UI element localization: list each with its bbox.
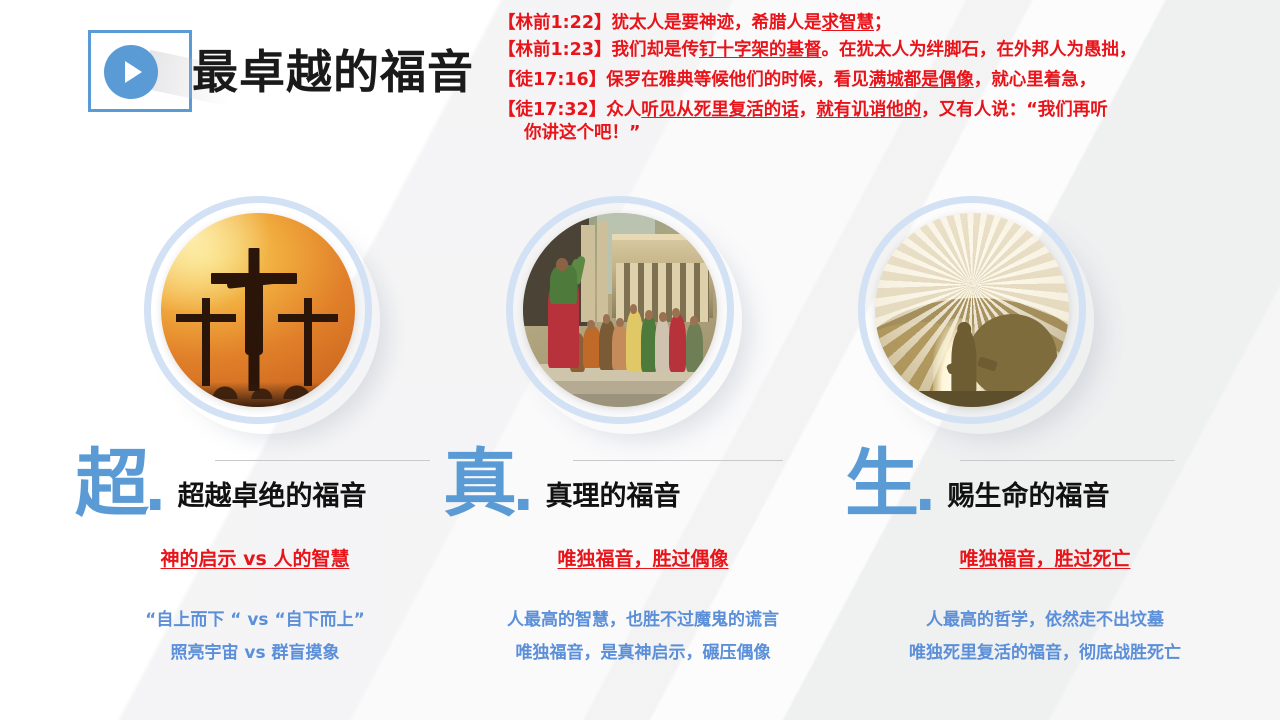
detail-line: 唯独福音，是真神启示，碾压偶像 [443, 637, 843, 670]
verse-emphasis: 钉十字架的基督 [699, 40, 822, 60]
column-red-subtitle: 神的启示 vs 人的智慧 [55, 544, 455, 571]
column-detail-lines: 人最高的智慧，也胜不过魔鬼的谎言 唯独福音，是真神启示，碾压偶像 [443, 604, 843, 670]
detail-line: 唯独死里复活的福音，彻底战胜死亡 [845, 637, 1245, 670]
column-heading: 超越卓绝的福音 [178, 474, 367, 513]
column-divider [215, 460, 430, 461]
three-crosses-sunset-image [161, 213, 355, 407]
column-dot: . [915, 449, 936, 520]
verse-emphasis-2: 就有讥诮他的 [816, 100, 921, 120]
verse-reference: 【林前1:22】 [498, 13, 612, 33]
scripture-verse: 【林前1:22】犹太人是要神迹，希腊人是求智慧； [498, 12, 1280, 35]
column-big-char: 超 [75, 449, 149, 520]
column-heading: 真理的福音 [546, 474, 681, 513]
verse-text: 众人 [606, 100, 641, 120]
column-heading-row: 真 . 真理的福音 [443, 443, 843, 520]
verse-text: 犹太人是要神迹，希腊人是 [612, 13, 822, 33]
scripture-verse: 【徒17:32】众人听见从死里复活的话，就有讥诮他的，又有人说：“我们再听你讲这… [498, 99, 1280, 145]
page-title: 最卓越的福音 [192, 36, 474, 102]
verse-reference: 【徒17:16】 [498, 70, 606, 90]
play-button-icon [104, 45, 158, 99]
column-divider [960, 460, 1175, 461]
scripture-verse: 【徒17:16】保罗在雅典等候他们的时候，看见满城都是偶像，就心里着急， [498, 69, 1280, 92]
verse-text-tail: ，又有人说：“我们再听 [921, 100, 1108, 120]
verse-text-tail: ； [874, 13, 892, 33]
column-big-char: 生 [845, 449, 919, 520]
slide-canvas: 最卓越的福音 【林前1:22】犹太人是要神迹，希腊人是求智慧； 【林前1:23】… [0, 0, 1280, 720]
verse-reference: 【林前1:23】 [498, 40, 612, 60]
verse-emphasis: 满城都是偶像 [869, 70, 974, 90]
detail-line: 人最高的智慧，也胜不过魔鬼的谎言 [443, 604, 843, 637]
verse-text-tail: 。在犹太人为绊脚石，在外邦人为愚拙， [822, 40, 1137, 60]
image-circle-2 [506, 196, 734, 424]
verse-text: 我们却是传 [612, 40, 700, 60]
column-detail-lines: “自上而下 “ vs “自下而上” 照亮宇宙 vs 群盲摸象 [55, 604, 455, 670]
column-heading-row: 生 . 赐生命的福音 [845, 443, 1245, 520]
detail-line: 人最高的哲学，依然走不出坟墓 [845, 604, 1245, 637]
column-block-2: 真 . 真理的福音 唯独福音，胜过偶像 人最高的智慧，也胜不过魔鬼的谎言 唯独福… [443, 443, 843, 670]
image-circle-3 [858, 196, 1086, 424]
verse-text-wrap: 你讲这个吧！” [498, 122, 1280, 145]
verse-emphasis: 求智慧 [822, 13, 875, 33]
paul-preaching-athens-image [523, 213, 717, 407]
column-red-subtitle: 唯独福音，胜过偶像 [443, 544, 843, 571]
column-dot: . [513, 449, 534, 520]
verse-emphasis: 听见从死里复活的话 [641, 100, 799, 120]
detail-line: 照亮宇宙 vs 群盲摸象 [55, 637, 455, 670]
detail-line: “自上而下 “ vs “自下而上” [55, 604, 455, 637]
column-red-subtitle: 唯独福音，胜过死亡 [845, 544, 1245, 571]
resurrection-tomb-image [875, 213, 1069, 407]
column-block-3: 生 . 赐生命的福音 唯独福音，胜过死亡 人最高的哲学，依然走不出坟墓 唯独死里… [845, 443, 1245, 670]
verse-text-tail: ，就心里着急， [974, 70, 1097, 90]
verse-text: 保罗在雅典等候他们的时候，看见 [606, 70, 869, 90]
scripture-block: 【林前1:22】犹太人是要神迹，希腊人是求智慧； 【林前1:23】我们却是传钉十… [498, 12, 1280, 149]
play-triangle-icon [125, 61, 142, 83]
column-heading-row: 超 . 超越卓绝的福音 [75, 443, 455, 520]
column-block-1: 超 . 超越卓绝的福音 神的启示 vs 人的智慧 “自上而下 “ vs “自下而… [55, 443, 455, 670]
scripture-verse: 【林前1:23】我们却是传钉十字架的基督。在犹太人为绊脚石，在外邦人为愚拙， [498, 39, 1280, 62]
column-dot: . [145, 449, 166, 520]
column-detail-lines: 人最高的哲学，依然走不出坟墓 唯独死里复活的福音，彻底战胜死亡 [845, 604, 1245, 670]
verse-reference: 【徒17:32】 [498, 100, 606, 120]
verse-text-mid: ， [799, 100, 817, 120]
image-circle-1 [144, 196, 372, 424]
column-divider [573, 460, 783, 461]
column-heading: 赐生命的福音 [948, 474, 1110, 513]
column-big-char: 真 [443, 449, 517, 520]
